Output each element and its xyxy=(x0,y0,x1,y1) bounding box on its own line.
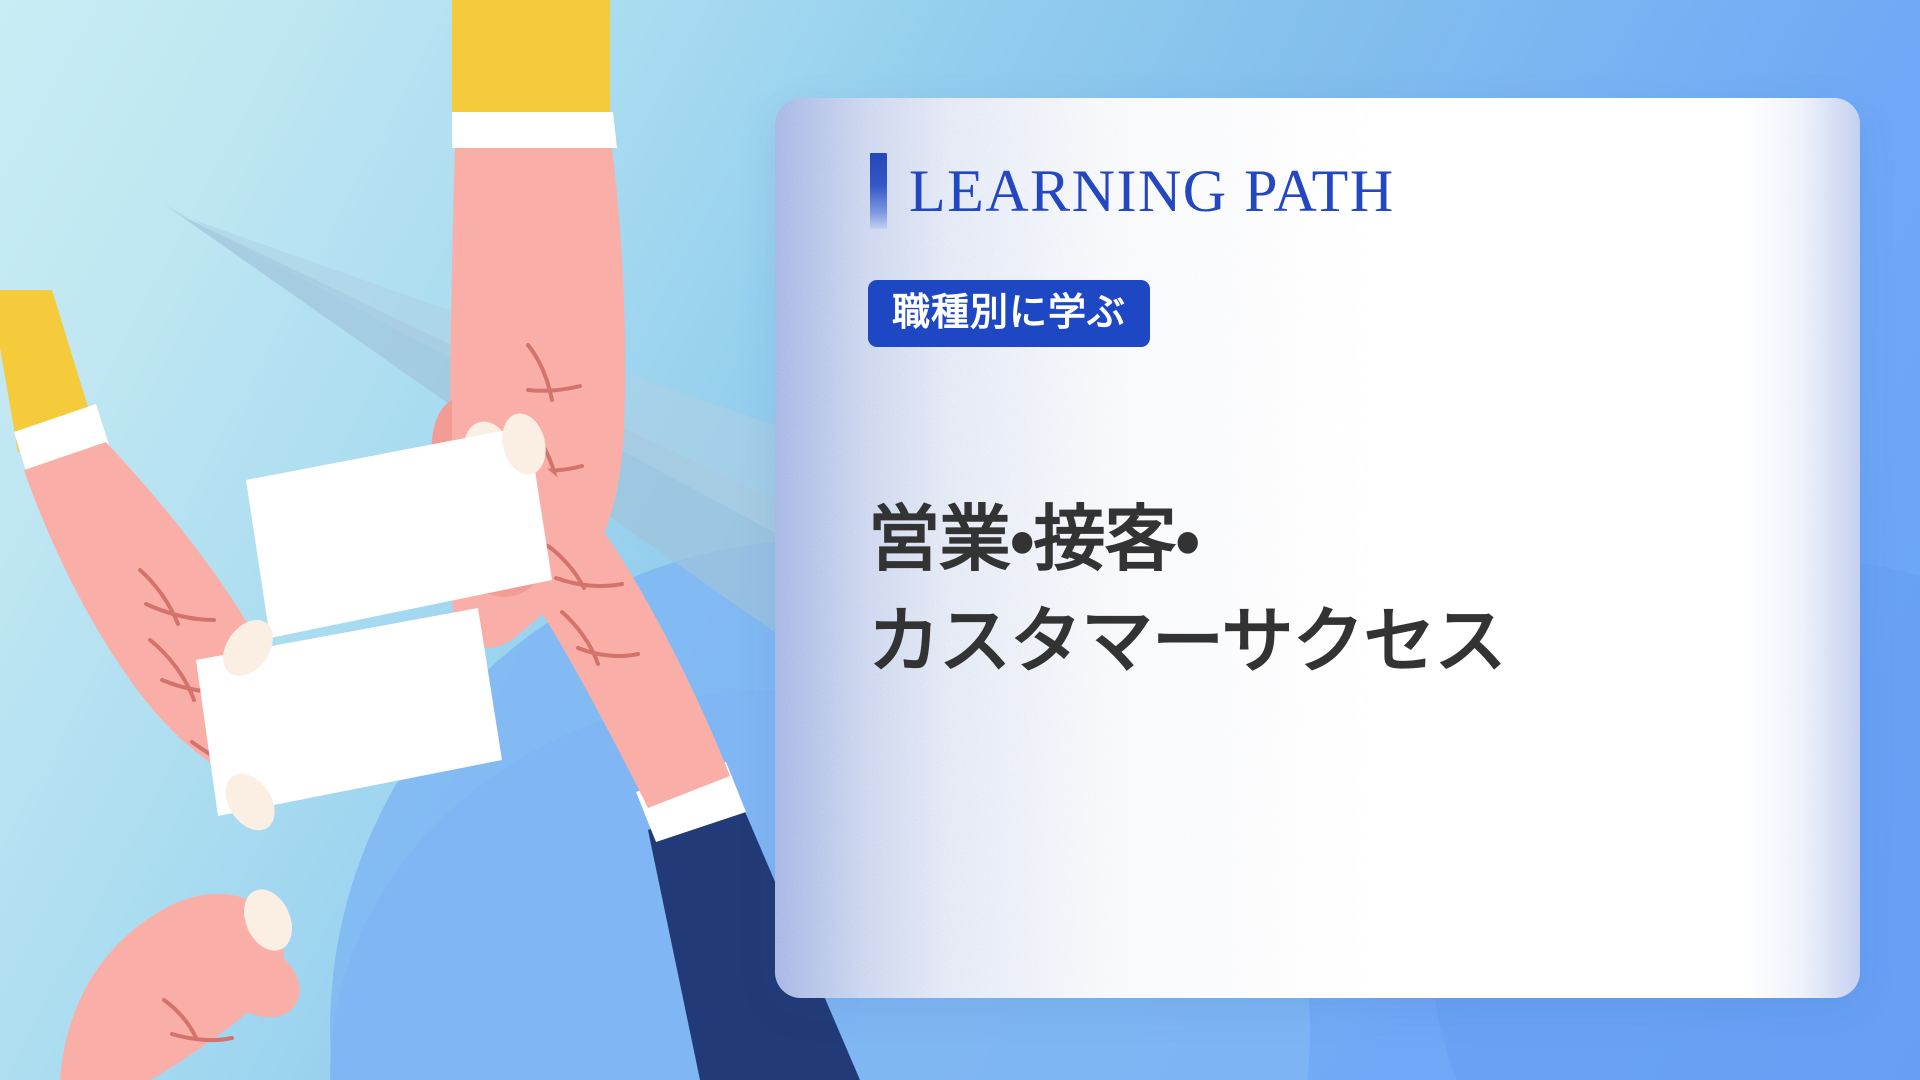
page-title: 営業・接客・ カスタマーサクセス xyxy=(868,488,1768,692)
page-title-line-1: 営業・接客・ xyxy=(868,488,1768,590)
banner-stage: LEARNING PATH 職種別に学ぶ 営業・接客・ カスタマーサクセス xyxy=(0,0,1920,1080)
illustration-business-card-exchange xyxy=(0,0,860,1080)
content-card: LEARNING PATH 職種別に学ぶ 営業・接客・ カスタマーサクセス xyxy=(775,98,1860,998)
eyebrow-label: LEARNING PATH xyxy=(909,161,1395,221)
page-title-line-2: カスタマーサクセス xyxy=(868,590,1768,692)
sleeve-yellow-top xyxy=(452,0,610,112)
category-badge[interactable]: 職種別に学ぶ xyxy=(868,280,1150,347)
accent-bar-icon xyxy=(870,153,887,229)
eyebrow: LEARNING PATH xyxy=(870,148,1395,234)
cuff-white-top xyxy=(452,112,617,148)
category-badge-label: 職種別に学ぶ xyxy=(892,290,1126,334)
content-card-inner: LEARNING PATH 職種別に学ぶ 営業・接客・ カスタマーサクセス xyxy=(775,98,1860,998)
illustration-svg xyxy=(0,0,860,1080)
